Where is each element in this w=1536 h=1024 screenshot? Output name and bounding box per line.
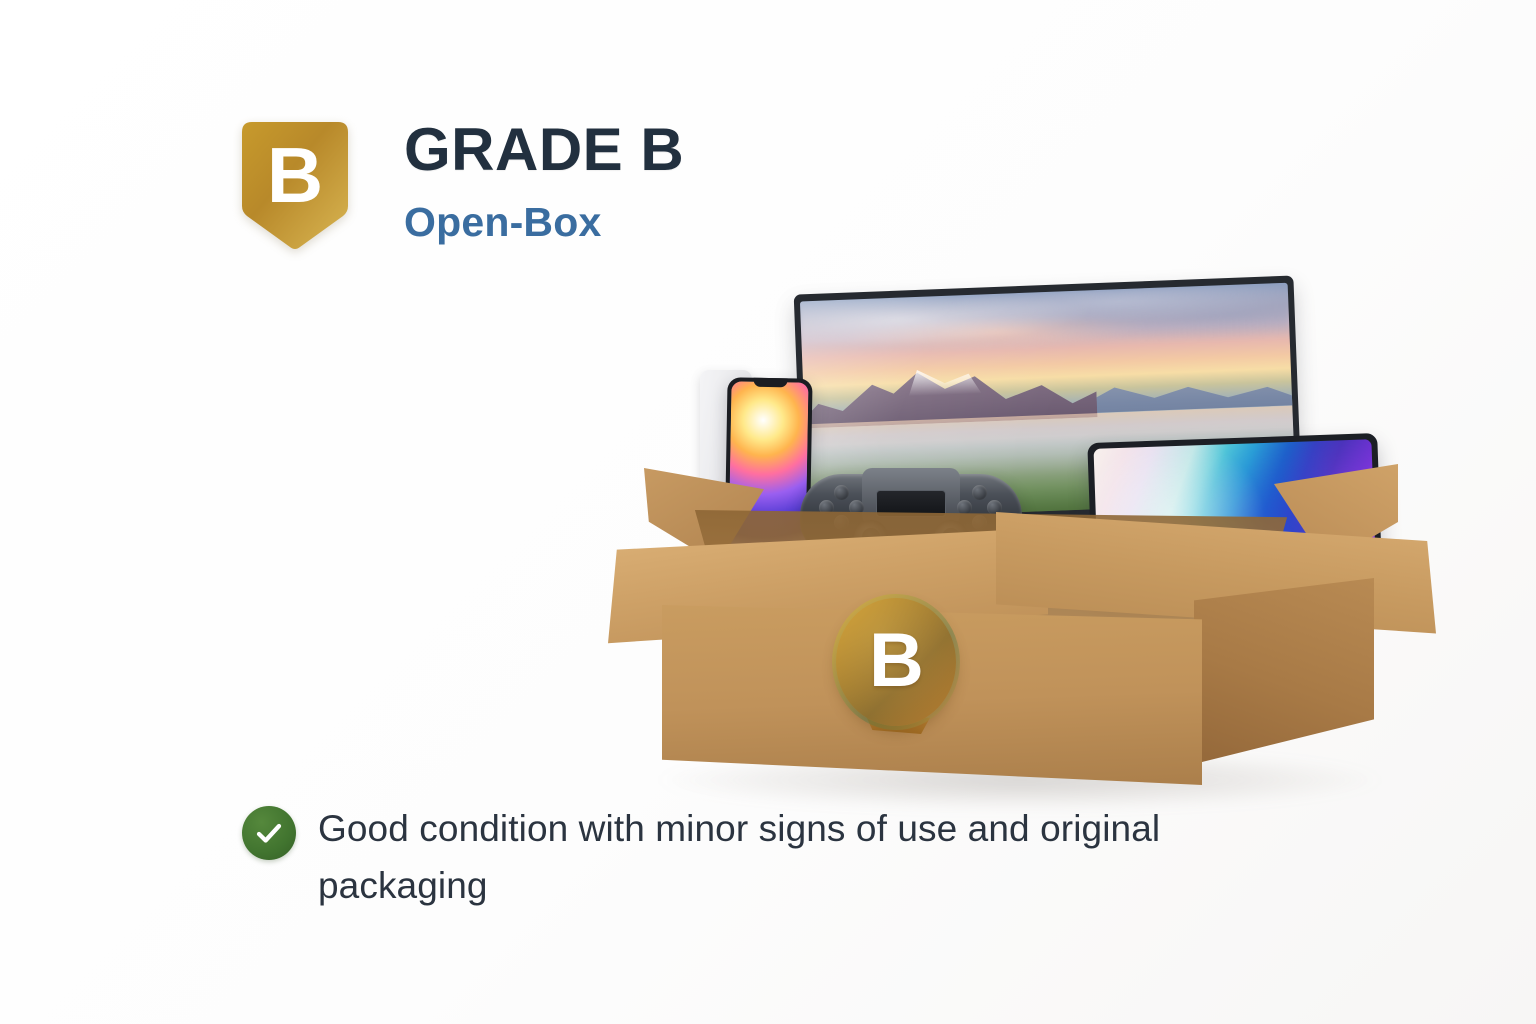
box-side-panel [1194, 578, 1374, 764]
page-title: GRADE B [404, 118, 684, 181]
phone-notch [753, 378, 787, 388]
page-subtitle: Open-Box [404, 201, 684, 244]
hero-illustration: B [600, 270, 1440, 830]
condition-note: Good condition with minor signs of use a… [242, 800, 1302, 915]
tv-sky-clouds [800, 283, 1292, 402]
check-glyph [254, 818, 284, 848]
grade-b-open-box-card: B GRADE B Open-Box [0, 0, 1536, 1024]
title-block: GRADE B Open-Box [404, 118, 684, 244]
shield-badge-letter: B [267, 131, 323, 219]
shield-badge: B [232, 118, 358, 254]
check-circle-icon [242, 806, 296, 860]
cardboard-box: B [600, 450, 1440, 800]
condition-note-text: Good condition with minor signs of use a… [318, 800, 1248, 915]
shield-badge-icon: B [232, 118, 358, 254]
grade-b-sticker-letter: B [869, 623, 923, 699]
header: B GRADE B Open-Box [232, 118, 952, 288]
grade-b-sticker: B [836, 598, 956, 726]
